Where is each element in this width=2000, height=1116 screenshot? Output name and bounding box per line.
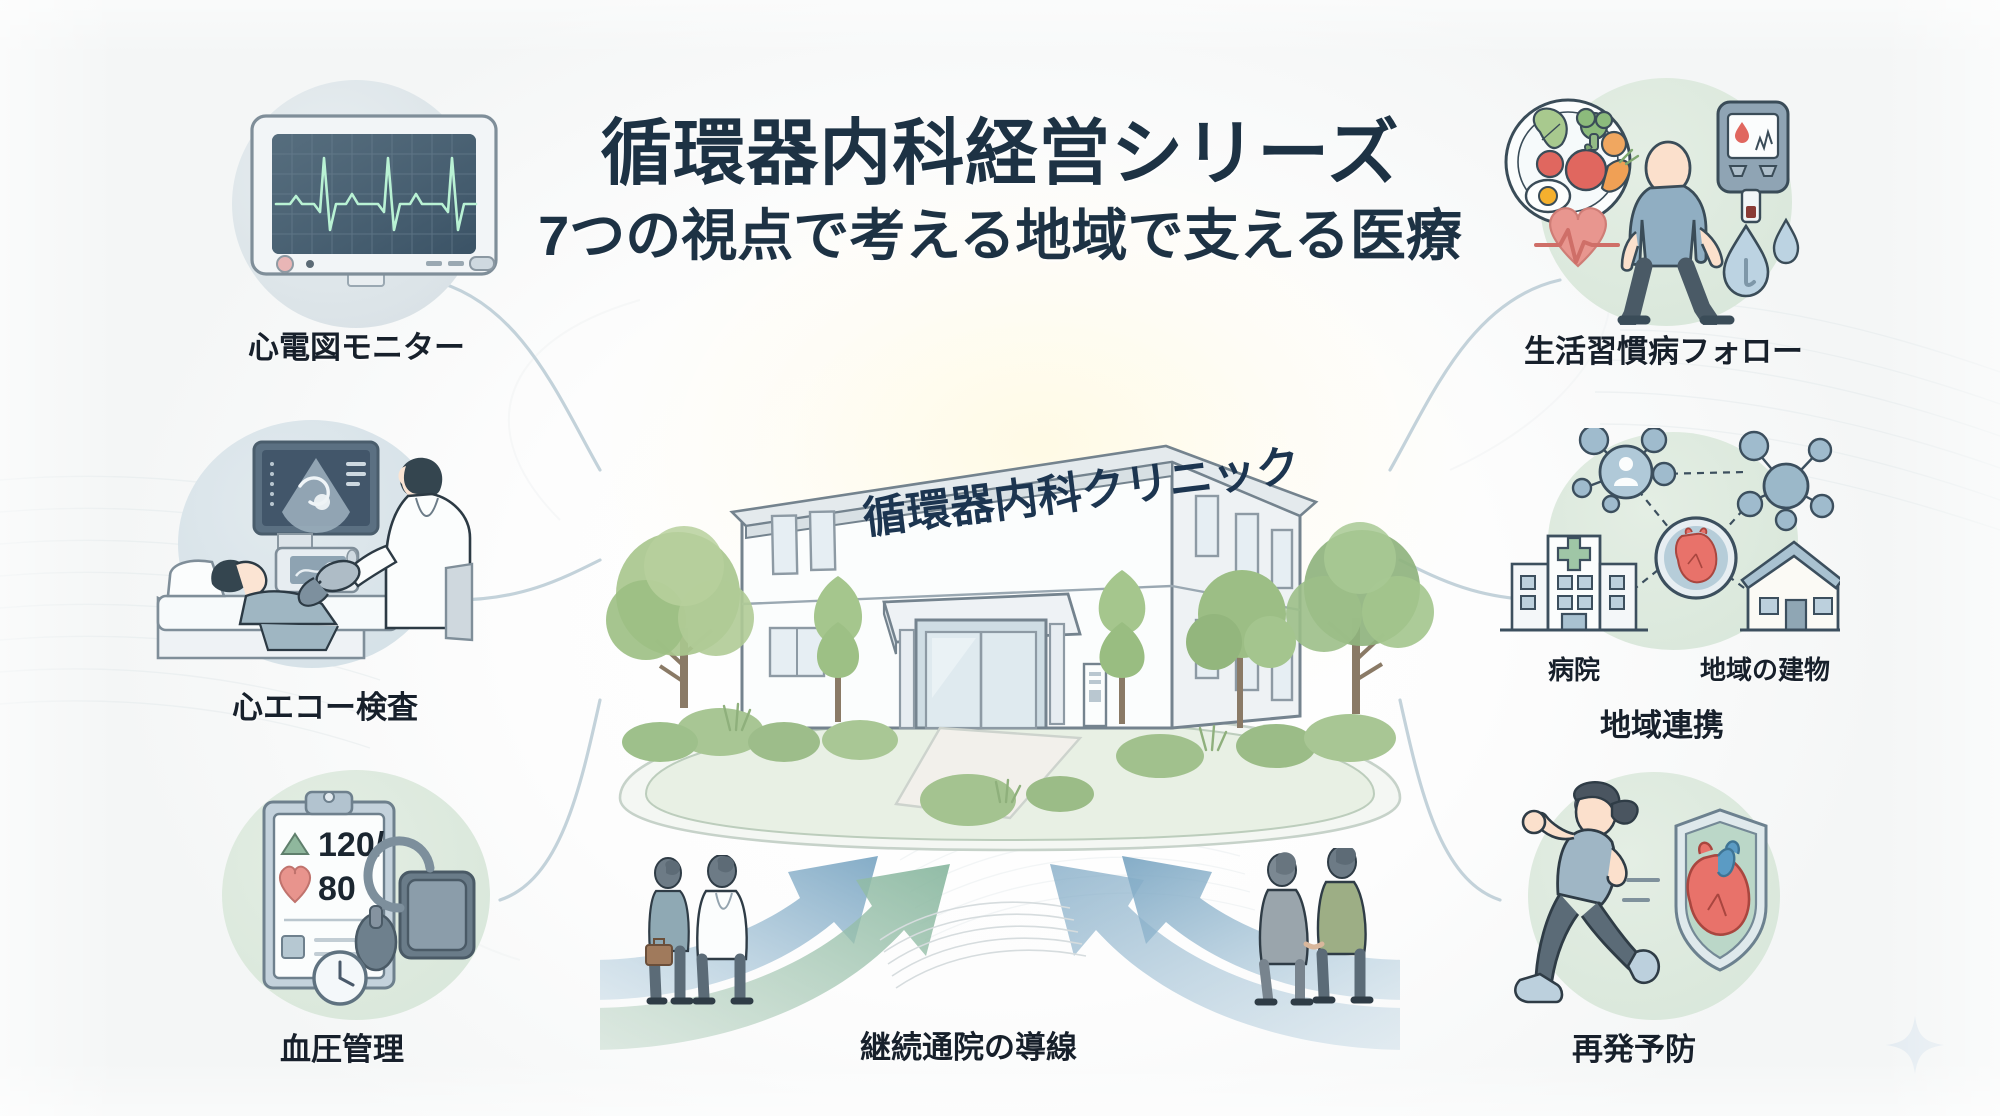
page-title: 循環器内科経営シリーズ	[0, 118, 2000, 190]
doctor-and-patient-figures	[638, 855, 768, 1015]
continuity-flow-label: 継続通院の導線	[860, 1022, 1077, 1067]
community-building-label: 地域の建物	[1700, 650, 1830, 687]
regional-network-label: 地域連携	[1600, 700, 1724, 745]
hospital-label: 病院	[1548, 650, 1600, 687]
sparkle-icon	[1880, 1010, 1950, 1080]
page-subtitle: 7つの視点で考える地域で支える医療	[0, 208, 2000, 264]
relapse-prevention-label: 再発予防	[1572, 1024, 1696, 1069]
echo-exam-label: 心エコー検査	[232, 682, 418, 727]
ultrasound-exam-icon[interactable]	[150, 428, 480, 673]
bp-control-label: 血圧管理	[280, 1024, 404, 1069]
patient-node	[1600, 446, 1652, 498]
running-woman-icon	[1515, 782, 1658, 1002]
tree-right	[1286, 522, 1434, 714]
ecg-monitor-label: 心電図モニター	[248, 322, 465, 367]
clinic-building-illustration: 循環器内科クリニック	[560, 398, 1460, 858]
house-building-icon	[1740, 542, 1840, 630]
running-shield-icon[interactable]	[1512, 776, 1852, 1026]
lifestyle-followup-label: 生活習慣病フォロー	[1524, 326, 1803, 371]
medical-bag	[646, 945, 672, 965]
hospital-building-icon	[1500, 536, 1648, 630]
title-block: 循環器内科経営シリーズ 7つの視点で考える地域で支える医療	[0, 118, 2000, 264]
blood-pressure-icon[interactable]: 120/ 80	[250, 780, 480, 1010]
bp-diastolic-value: 80	[318, 870, 356, 908]
elderly-couple-figures	[1250, 848, 1380, 1016]
infographic-canvas: 循環器内科経営シリーズ 7つの視点で考える地域で支える医療	[0, 0, 2000, 1116]
network-icon[interactable]	[1490, 428, 1840, 650]
tree-left	[606, 526, 754, 708]
